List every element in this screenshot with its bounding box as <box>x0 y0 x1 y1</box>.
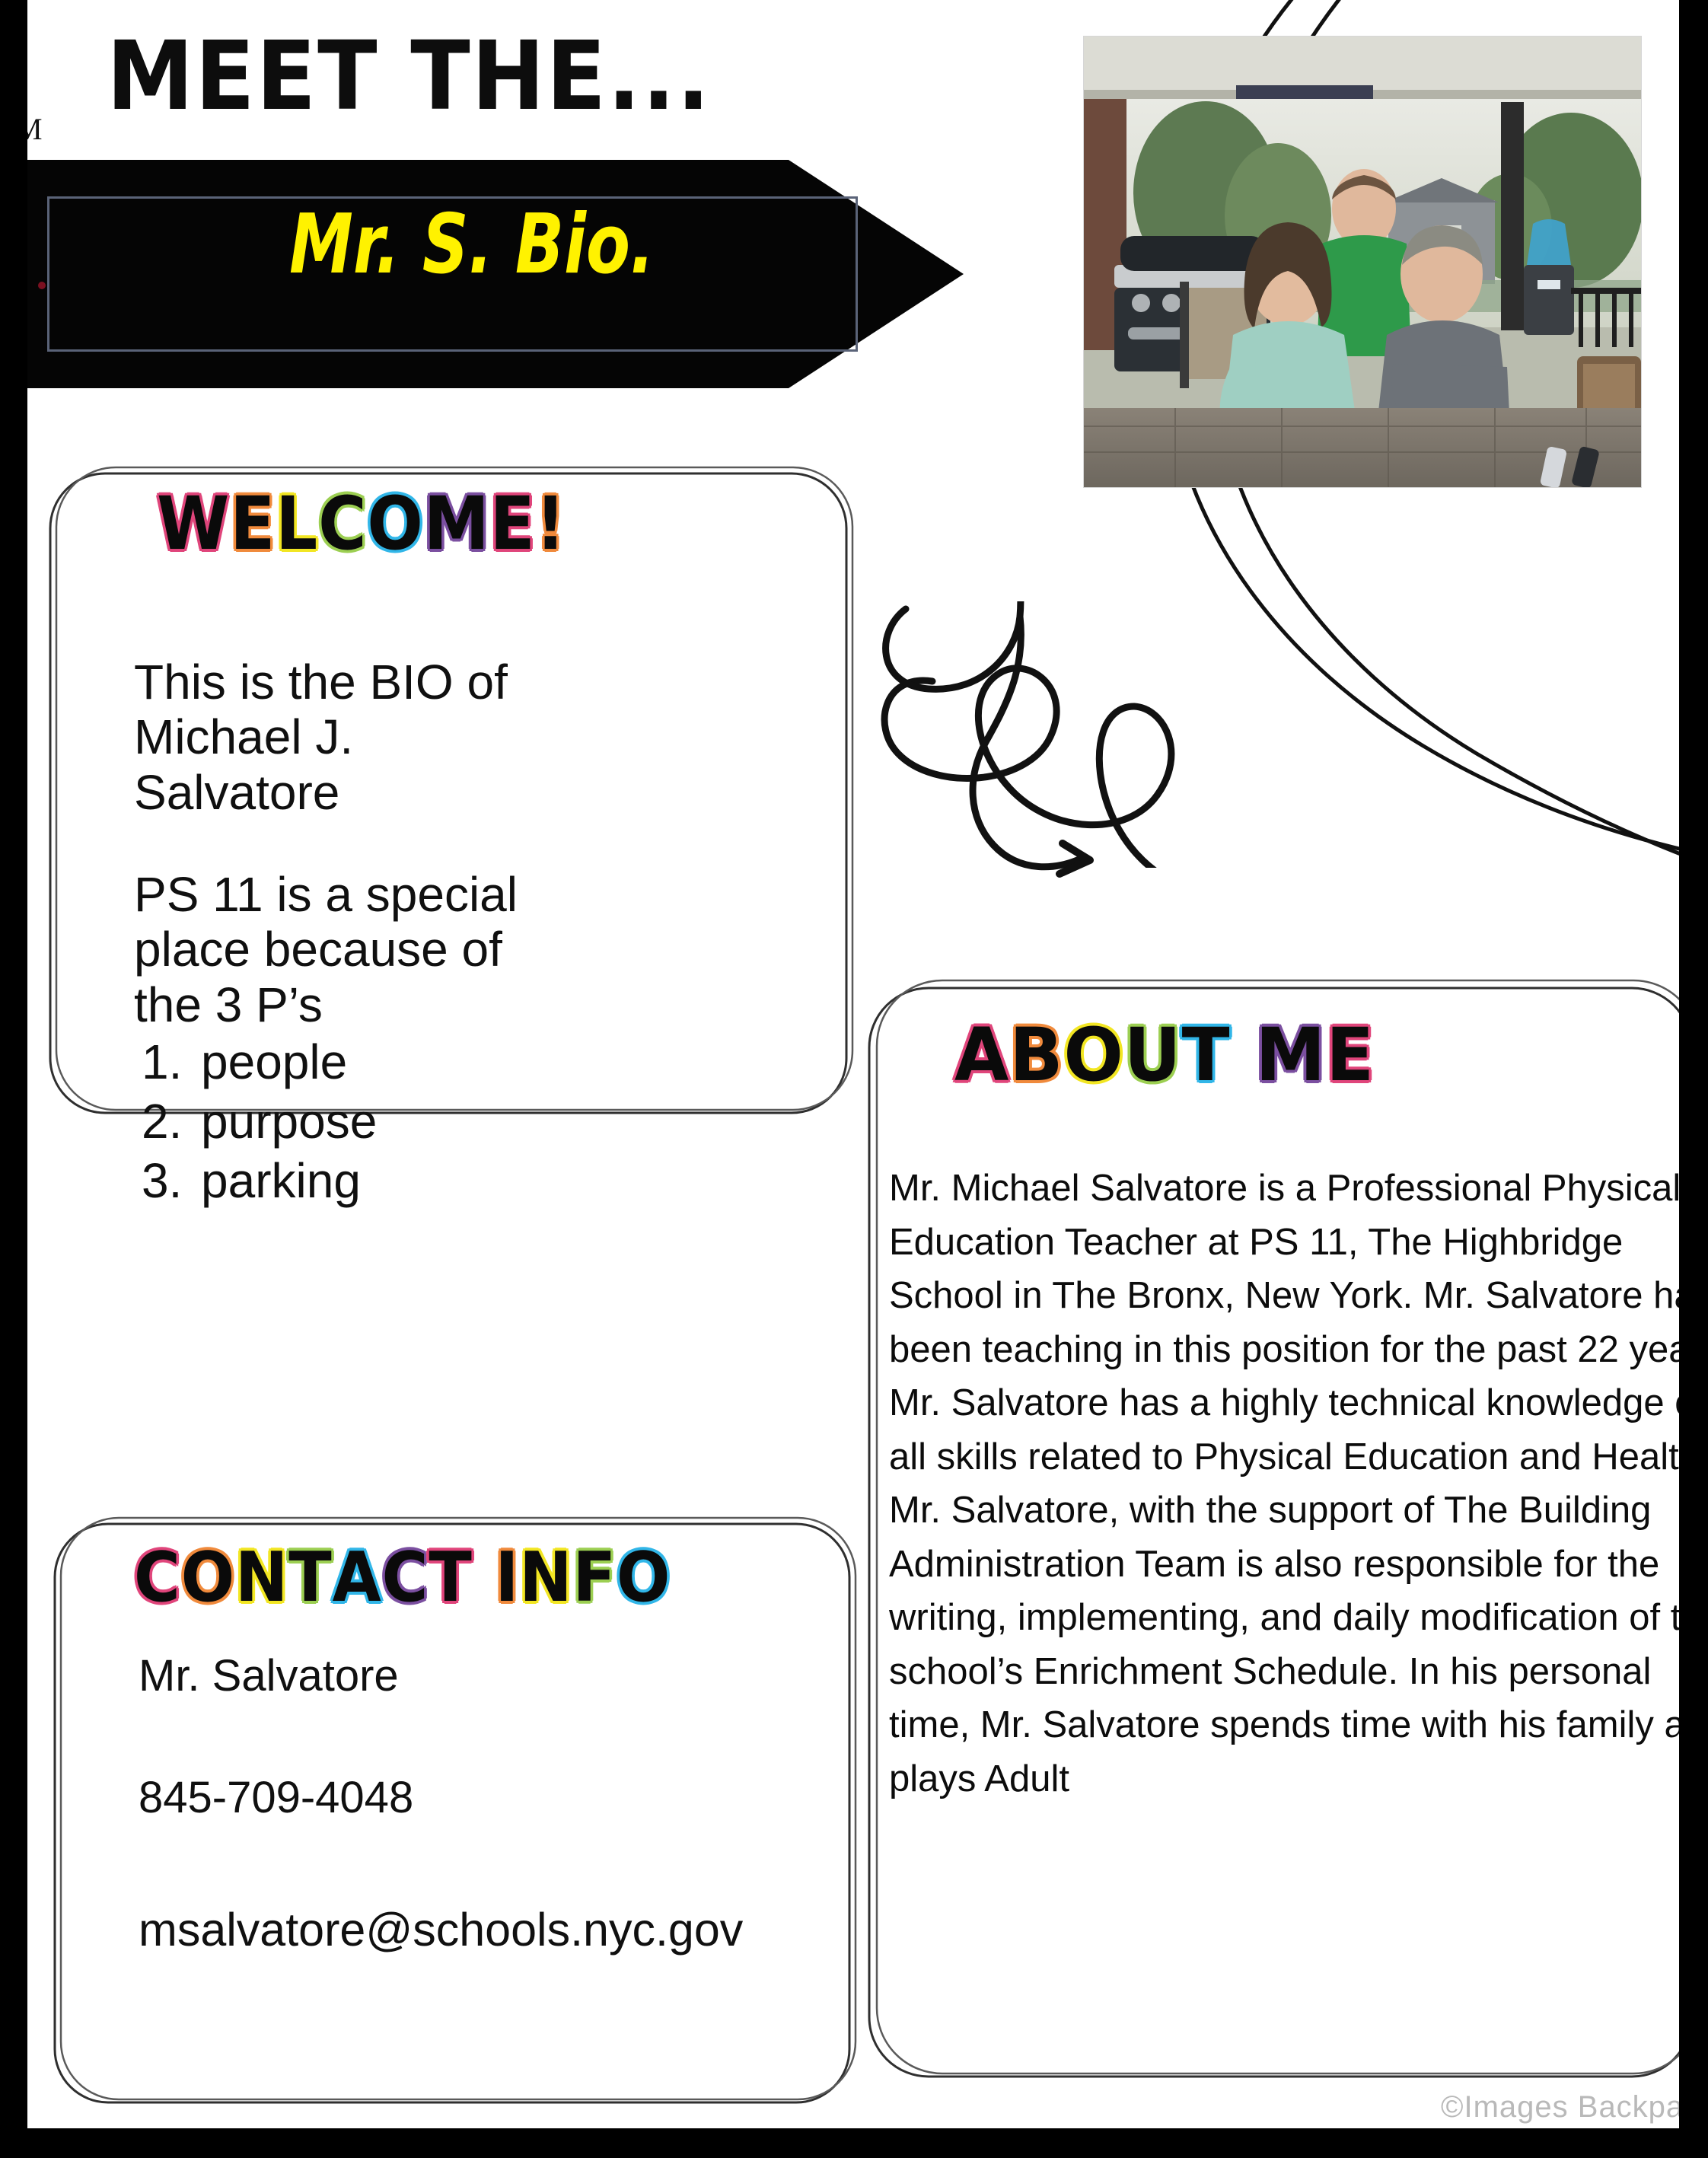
contact-panel: CONTACT INFO Mr. Salvatore 845-709-4048 … <box>59 1515 843 2116</box>
contact-email[interactable]: msalvatore@schools.nyc.gov <box>139 1905 824 1956</box>
welcome-line-1: This is the BIO of <box>134 655 712 709</box>
title-letter: O <box>1063 1018 1123 1092</box>
welcome-title: WELCOME! <box>157 487 566 560</box>
title-letter: W <box>157 487 230 560</box>
title-letter: F <box>572 1544 616 1612</box>
title-letter: O <box>367 487 423 560</box>
title-letter: E <box>1326 1018 1375 1092</box>
title-letter: E <box>230 487 276 560</box>
about-title: ABOUT ME <box>954 1018 1375 1092</box>
title-letter: C <box>382 1544 429 1612</box>
title-letter: L <box>276 487 318 560</box>
about-paragraph: Mr. Michael Salvatore is a Professional … <box>889 1162 1708 1806</box>
title-letter: T <box>288 1544 332 1612</box>
family-photo <box>1084 37 1641 487</box>
title-letter: ! <box>536 487 566 560</box>
contact-name: Mr. Salvatore <box>139 1652 824 1701</box>
welcome-panel: WELCOME! This is the BIO of Michael J. S… <box>59 472 843 1111</box>
title-letter: M <box>1255 1018 1326 1092</box>
title-letter: A <box>954 1018 1009 1092</box>
title-letter: T <box>1182 1018 1231 1092</box>
contact-body: Mr. Salvatore 845-709-4048 msalvatore@sc… <box>139 1652 824 1956</box>
title-letter: N <box>519 1544 572 1612</box>
title-letter: O <box>181 1544 235 1612</box>
contact-spacer-1 <box>139 1701 824 1774</box>
contact-spacer-2 <box>139 1822 824 1905</box>
welcome-line-4: PS 11 is a special <box>134 867 712 922</box>
page-border-left <box>0 0 27 2158</box>
title-letter: N <box>235 1544 288 1612</box>
contact-phone[interactable]: 845-709-4048 <box>139 1774 824 1822</box>
title-letter: M <box>424 487 490 560</box>
three-ps-list: people purpose parking <box>134 1032 712 1210</box>
welcome-spacer <box>134 820 712 867</box>
title-letter: U <box>1124 1018 1182 1092</box>
welcome-body: This is the BIO of Michael J. Salvatore … <box>134 655 712 1210</box>
subject-title: Mr. S. Bio. <box>247 204 698 286</box>
decorative-dot <box>38 282 46 289</box>
welcome-line-3: Salvatore <box>134 765 712 820</box>
contact-title: CONTACT INFO <box>134 1544 671 1612</box>
meet-the-heading: MEET THE... <box>107 29 712 124</box>
title-letter: C <box>318 487 367 560</box>
title-letter: A <box>333 1544 382 1612</box>
title-letter <box>1230 1018 1255 1092</box>
about-panel: ABOUT ME Mr. Michael Salvatore is a Prof… <box>874 982 1681 2124</box>
page-border-right <box>1679 0 1708 2158</box>
welcome-line-2: Michael J. <box>134 709 712 764</box>
welcome-line-5: place because of <box>134 922 712 977</box>
title-letter: T <box>429 1544 472 1612</box>
list-item: purpose <box>201 1092 712 1151</box>
title-letter: O <box>617 1544 671 1612</box>
list-item: parking <box>201 1151 712 1210</box>
page-border-bottom <box>0 2128 1708 2158</box>
poster-page: MEET THE... M Mr. S. Bio. <box>0 0 1708 2158</box>
welcome-line-6: the 3 P’s <box>134 977 712 1032</box>
title-letter: I <box>496 1544 520 1612</box>
title-letter: B <box>1009 1018 1063 1092</box>
title-letter <box>473 1544 496 1612</box>
title-letter: E <box>490 487 536 560</box>
title-letter: C <box>134 1544 181 1612</box>
watermark: ©Images Backpack <box>1441 2090 1708 2125</box>
list-item: people <box>201 1032 712 1092</box>
